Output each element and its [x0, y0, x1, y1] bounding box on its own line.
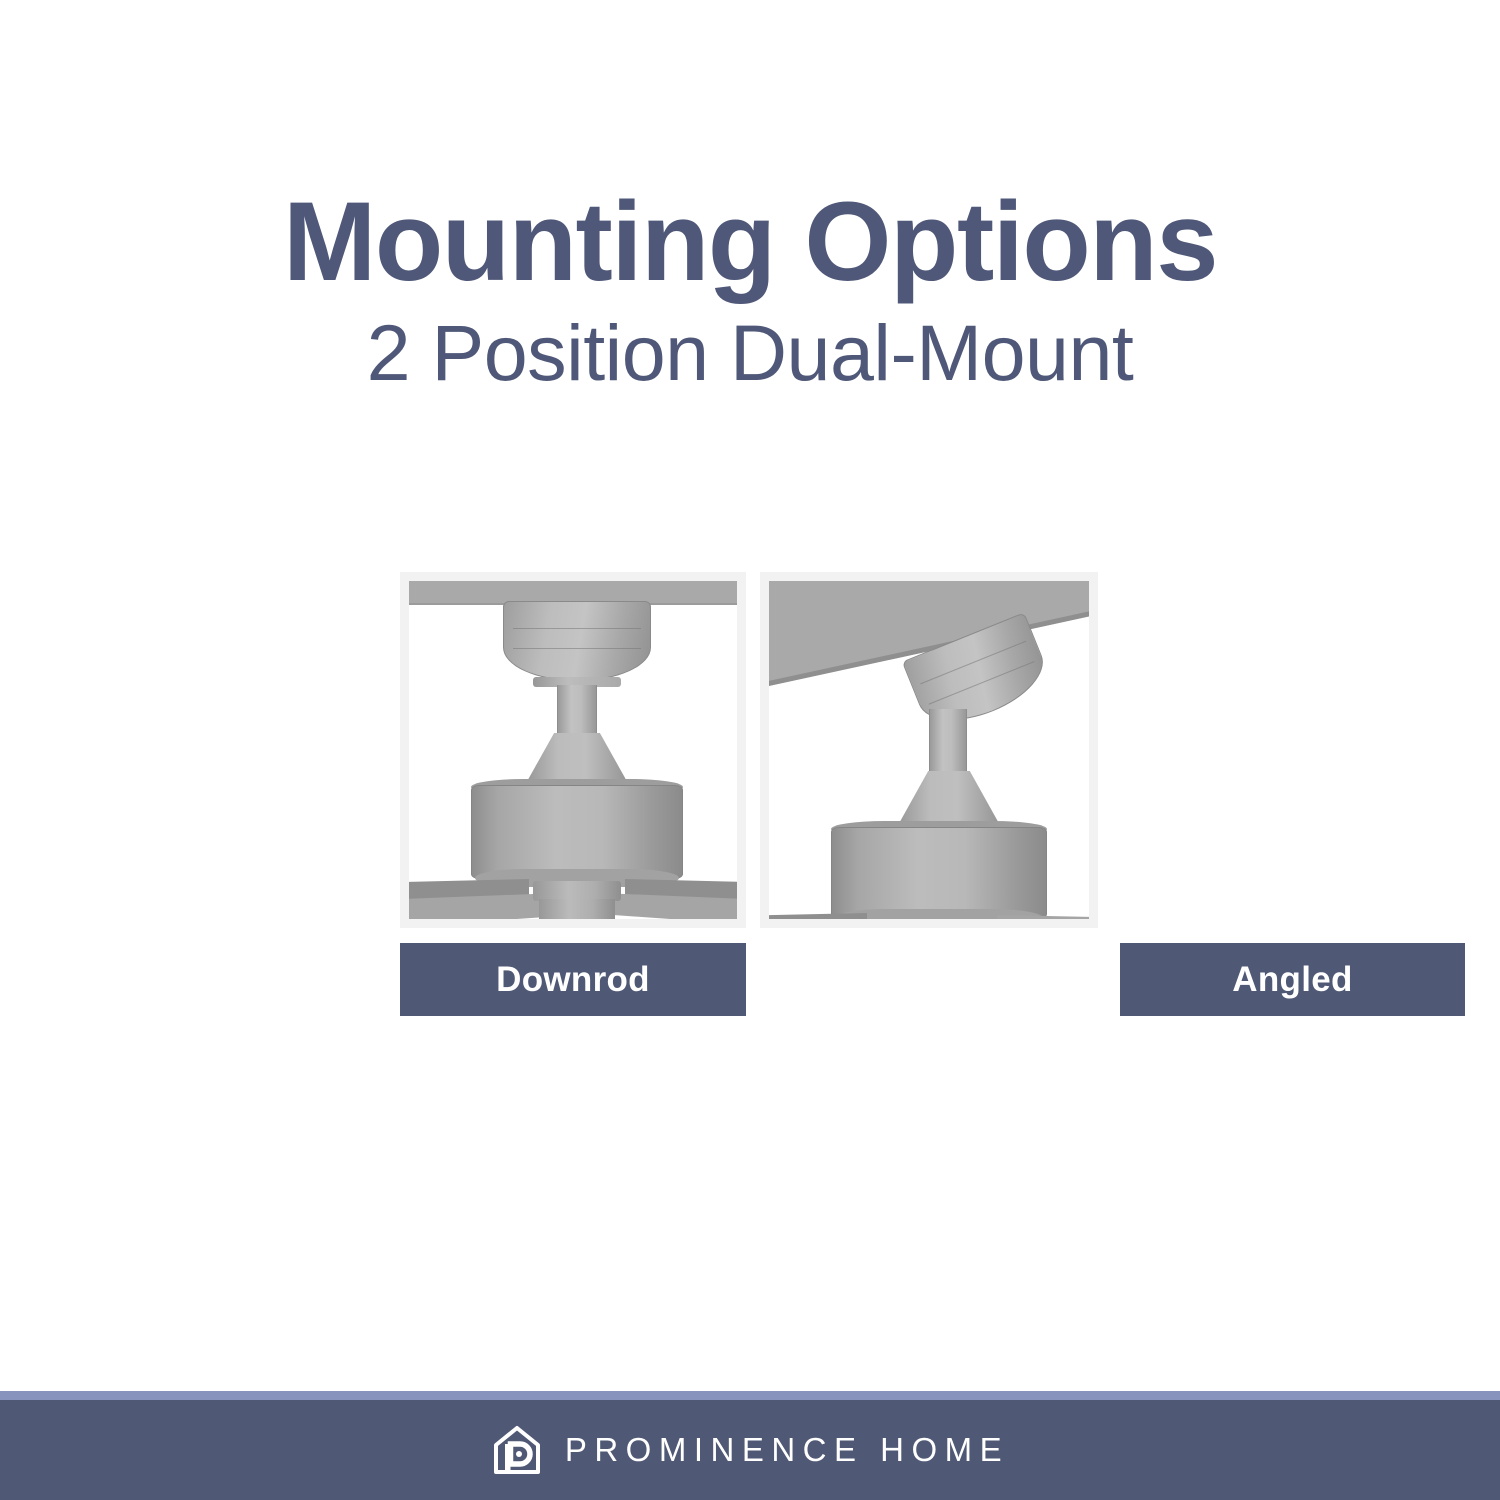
page-subtitle: 2 Position Dual-Mount	[0, 310, 1500, 395]
angled-figure-frame	[760, 572, 1098, 928]
page-header: Mounting Options 2 Position Dual-Mount	[0, 0, 1500, 395]
brand-lockup: PROMINENCE HOME	[491, 1424, 1009, 1476]
motor-housing	[471, 785, 683, 879]
brand-name: PROMINENCE HOME	[565, 1431, 1009, 1469]
page-title: Mounting Options	[0, 186, 1500, 298]
switch-housing-cap	[533, 881, 621, 901]
ceiling-fan-angled-mount-icon	[769, 581, 1089, 919]
mounting-options-gallery: Downrod	[400, 572, 1106, 1016]
fan-blade-left	[769, 913, 867, 919]
ceiling-fan-downrod-mount-icon	[409, 581, 737, 919]
downrod-figure-frame	[400, 572, 746, 928]
bottom-finial	[539, 899, 615, 919]
motor-coupling-cone	[525, 733, 629, 785]
mounting-option-angled[interactable]: Angled	[760, 572, 1098, 928]
footer-accent-stripe	[0, 1391, 1500, 1400]
prominence-home-house-p-logo	[491, 1424, 543, 1476]
mounting-option-label-angled[interactable]: Angled	[1120, 943, 1465, 1016]
mounting-option-downrod[interactable]: Downrod	[400, 572, 746, 928]
motor-coupling-cone	[897, 771, 1001, 827]
motor-housing	[831, 827, 1047, 919]
footer-bar: PROMINENCE HOME	[0, 1400, 1500, 1500]
downrod	[929, 709, 967, 775]
canopy-dome	[503, 601, 651, 681]
mounting-option-label-downrod[interactable]: Downrod	[400, 943, 746, 1016]
downrod	[557, 685, 597, 737]
